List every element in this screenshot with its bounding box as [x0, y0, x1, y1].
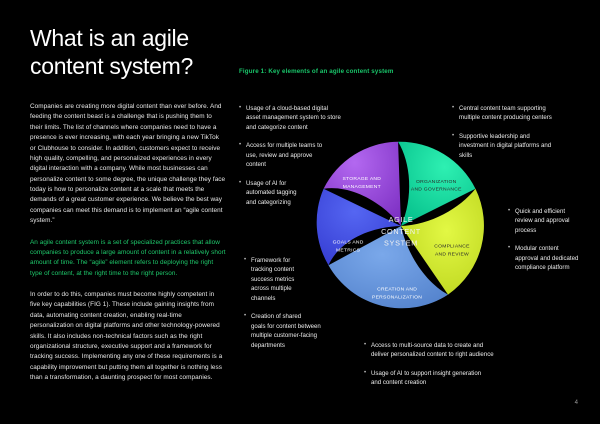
slide-canvas: What is an agile content system? Compani…: [0, 0, 600, 424]
callout-text: Usage of AI to support insight generatio…: [371, 369, 570, 388]
petal-label-line-1: ORGANIZATION: [416, 179, 457, 185]
petal-label-line-2: MANAGEMENT: [343, 184, 381, 190]
list-item: • Quick and efficient review and approva…: [508, 207, 592, 235]
list-item: • Central content team supporting multip…: [452, 104, 576, 123]
callout-group-compliance: • Quick and efficient review and approva…: [508, 207, 592, 273]
center-label-line-2: CONTENT: [381, 227, 421, 236]
petal-label-line-2: PERSONALIZATION: [372, 295, 422, 301]
bullet-dot-icon: •: [244, 256, 251, 265]
petal-label-line-1: STORAGE AND: [342, 176, 381, 182]
bullet-dot-icon: •: [452, 104, 459, 113]
callout-text: Central content team supporting multiple…: [459, 104, 576, 123]
page-title: What is an agile content system?: [30, 24, 226, 80]
center-label-line-3: SYSTEM: [384, 239, 418, 248]
agile-content-system-diagram: STORAGE AND MANAGEMENT ORGANIZATION AND …: [303, 128, 499, 324]
callout-text: Access to multi-source data to create an…: [371, 341, 570, 360]
list-item: • Usage of AI to support insight generat…: [364, 369, 570, 388]
petal-label-line-2: AND GOVERNANCE: [411, 187, 462, 193]
body-paragraph-3: In order to do this, companies must beco…: [30, 290, 226, 383]
page-number: 4: [575, 400, 578, 406]
petal-label-line-1: CREATION AND: [377, 287, 417, 293]
body-paragraph-highlight: An agile content system is a set of spec…: [30, 238, 226, 280]
petal-label-line-2: METRICS: [336, 247, 361, 253]
petal-label-line-1: GOALS AND: [333, 240, 364, 246]
center-label-line-1: AGILE: [389, 215, 414, 224]
callout-group-creation: • Access to multi-source data to create …: [364, 341, 570, 388]
callout-text: Modular content approval and dedicated c…: [515, 244, 592, 272]
bullet-dot-icon: •: [239, 141, 246, 150]
petal-label-line-1: COMPLIANCE: [434, 244, 470, 250]
list-item: • Modular content approval and dedicated…: [508, 244, 592, 272]
callout-text: Quick and efficient review and approval …: [515, 207, 592, 235]
bullet-dot-icon: •: [244, 312, 251, 321]
bullet-dot-icon: •: [239, 104, 246, 113]
body-paragraph-1: Companies are creating more digital cont…: [30, 102, 226, 227]
bullet-dot-icon: •: [364, 369, 371, 378]
bullet-dot-icon: •: [239, 179, 246, 188]
bullet-dot-icon: •: [508, 244, 515, 253]
list-item: • Access to multi-source data to create …: [364, 341, 570, 360]
bullet-dot-icon: •: [364, 341, 371, 350]
figure-caption: Figure 1: Key elements of an agile conte…: [239, 68, 394, 75]
petal-label-line-2: AND REVIEW: [435, 251, 469, 257]
left-text-column: What is an agile content system? Compani…: [30, 24, 226, 394]
bullet-dot-icon: •: [508, 207, 515, 216]
